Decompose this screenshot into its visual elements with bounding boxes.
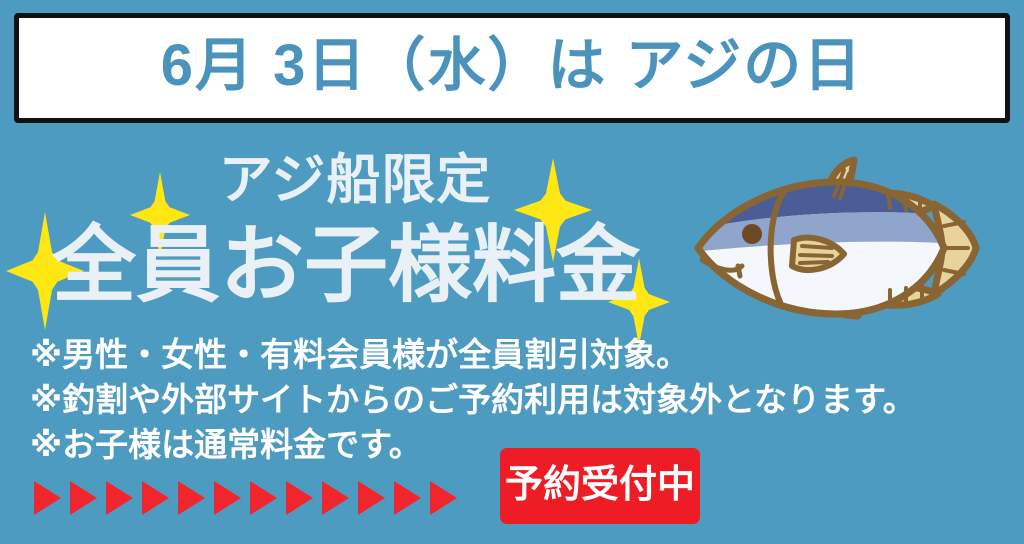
reservation-status-label: 予約受付中 xyxy=(505,466,695,504)
headline-subtitle: アジ船限定 xyxy=(180,153,530,207)
note-line: ※釣割や外部サイトからのご予約利用は対象外となります。 xyxy=(30,377,1010,422)
arrow-right-icon xyxy=(142,481,169,515)
header-title-box: 6月 3日（水）は アジの日 xyxy=(14,13,1010,123)
arrow-right-icon xyxy=(358,481,385,515)
promo-banner: 6月 3日（水）は アジの日 アジ船限定 全員お子様料金 xyxy=(0,0,1024,544)
notes-block: ※男性・女性・有料会員様が全員割引対象。 ※釣割や外部サイトからのご予約利用は対… xyxy=(30,332,1010,467)
arrow-right-icon xyxy=(106,481,133,515)
arrow-right-icon xyxy=(250,481,277,515)
reservation-status-badge[interactable]: 予約受付中 xyxy=(500,448,700,524)
arrow-right-icon xyxy=(394,481,421,515)
arrow-row xyxy=(34,480,457,516)
arrow-right-icon xyxy=(430,481,457,515)
arrow-right-icon xyxy=(322,481,349,515)
arrow-right-icon xyxy=(34,481,61,515)
arrow-right-icon xyxy=(70,481,97,515)
aji-fish-icon xyxy=(676,148,1020,348)
headline-block: アジ船限定 全員お子様料金 xyxy=(0,145,680,335)
note-line: ※男性・女性・有料会員様が全員割引対象。 xyxy=(30,332,1010,377)
fish-eye xyxy=(742,224,762,244)
arrow-right-icon xyxy=(286,481,313,515)
headline-main: 全員お子様料金 xyxy=(52,223,632,307)
arrow-right-icon xyxy=(214,481,241,515)
arrow-right-icon xyxy=(178,481,205,515)
fish-illustration xyxy=(676,148,1020,348)
page-title: 6月 3日（水）は アジの日 xyxy=(161,37,863,95)
